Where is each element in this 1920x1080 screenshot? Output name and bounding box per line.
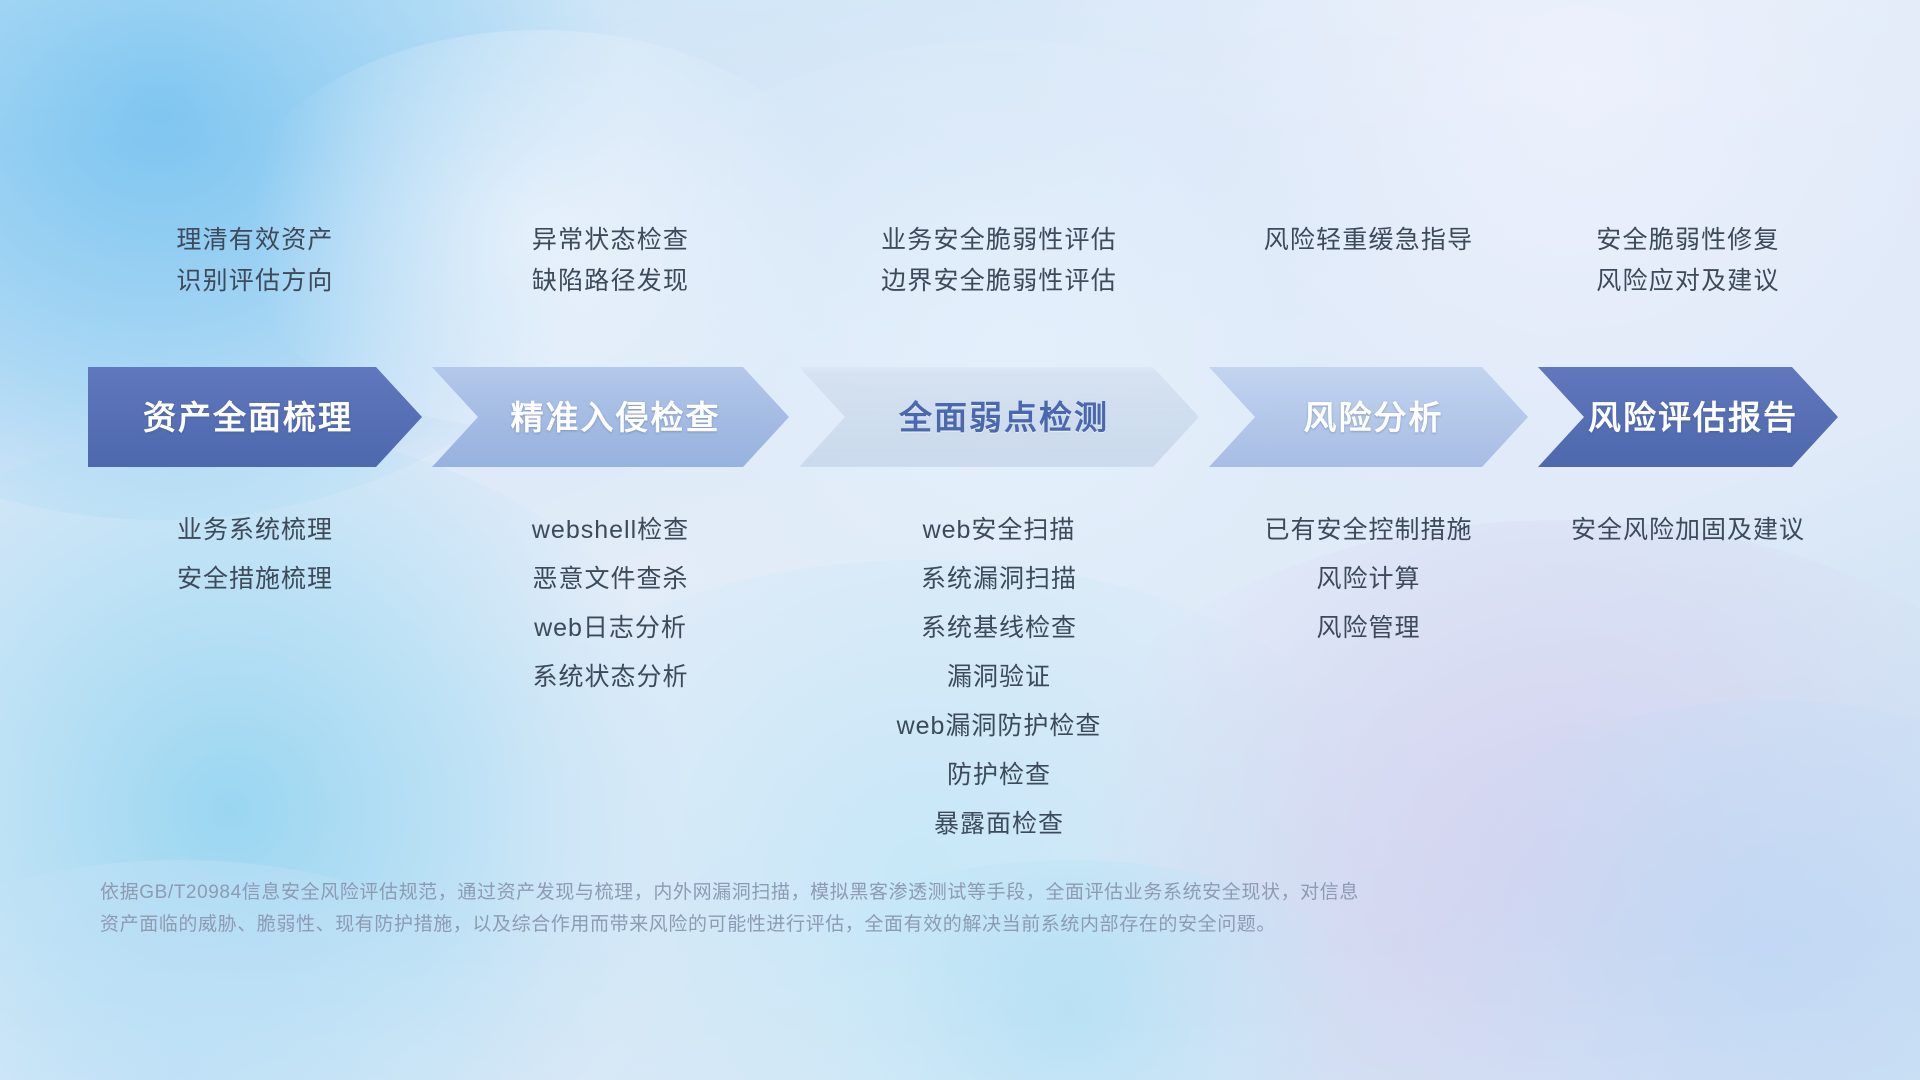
detail-item: 系统漏洞扫描 [921, 555, 1077, 604]
process-step-risk-report[interactable]: 风险评估报告 [1538, 367, 1838, 467]
detail-item: 安全风险加固及建议 [1571, 506, 1805, 555]
step-title: 资产全面梳理 [143, 401, 353, 434]
detail-columns-row: 业务系统梳理安全措施梳理webshell检查恶意文件查杀web日志分析系统状态分… [0, 506, 1920, 836]
step-title: 风险评估报告 [1588, 401, 1798, 434]
process-step-weakness-detection[interactable]: 全面弱点检测 [799, 367, 1199, 467]
top-caption-item: 业务安全脆弱性评估 [881, 228, 1117, 253]
detail-item: 风险管理 [1316, 604, 1420, 653]
detail-item: 防护检查 [947, 751, 1051, 800]
step-title: 精准入侵检查 [511, 401, 721, 434]
detail-column-risk-report: 安全风险加固及建议 [1428, 506, 1920, 555]
detail-item: web安全扫描 [923, 506, 1076, 555]
top-caption-item: 安全脆弱性修复 [1596, 228, 1779, 253]
detail-item: 漏洞验证 [947, 653, 1051, 702]
detail-item: 安全措施梳理 [177, 555, 333, 604]
top-caption-group-risk-report: 安全脆弱性修复风险应对及建议 [1428, 228, 1920, 294]
detail-item: 系统基线检查 [921, 604, 1077, 653]
detail-item: webshell检查 [532, 506, 689, 555]
top-caption-item: 缺陷路径发现 [532, 269, 689, 294]
step-title: 全面弱点检测 [899, 401, 1109, 434]
detail-item: 系统状态分析 [532, 653, 688, 702]
top-caption-item: 异常状态检查 [532, 228, 689, 253]
process-diagram: 理清有效资产识别评估方向异常状态检查缺陷路径发现业务安全脆弱性评估边界安全脆弱性… [0, 0, 1920, 1080]
top-caption-item: 理清有效资产 [176, 228, 333, 253]
detail-item: 恶意文件查杀 [532, 555, 688, 604]
step-title: 风险分析 [1304, 401, 1444, 434]
process-step-asset-inventory[interactable]: 资产全面梳理 [88, 367, 422, 467]
detail-item: 暴露面检查 [934, 800, 1064, 849]
top-caption-item: 风险应对及建议 [1596, 269, 1779, 294]
footer-line-2: 资产面临的威胁、脆弱性、现有防护措施，以及综合作用而带来风险的可能性进行评估，全… [100, 909, 1720, 941]
top-caption-item: 边界安全脆弱性评估 [881, 269, 1117, 294]
footer-line-1: 依据GB/T20984信息安全风险评估规范，通过资产发现与梳理，内外网漏洞扫描，… [100, 877, 1720, 909]
detail-item: web漏洞防护检查 [897, 702, 1102, 751]
detail-item: 业务系统梳理 [177, 506, 333, 555]
detail-item: 风险计算 [1316, 555, 1420, 604]
top-captions-row: 理清有效资产识别评估方向异常状态检查缺陷路径发现业务安全脆弱性评估边界安全脆弱性… [0, 228, 1920, 348]
process-step-intrusion-check[interactable]: 精准入侵检查 [432, 367, 789, 467]
top-caption-item: 识别评估方向 [176, 269, 333, 294]
process-chevron-band: 资产全面梳理精准入侵检查全面弱点检测风险分析风险评估报告 [88, 367, 1848, 467]
footer-description: 依据GB/T20984信息安全风险评估规范，通过资产发现与梳理，内外网漏洞扫描，… [100, 877, 1720, 941]
detail-item: web日志分析 [534, 604, 687, 653]
process-step-risk-analysis[interactable]: 风险分析 [1209, 367, 1528, 467]
